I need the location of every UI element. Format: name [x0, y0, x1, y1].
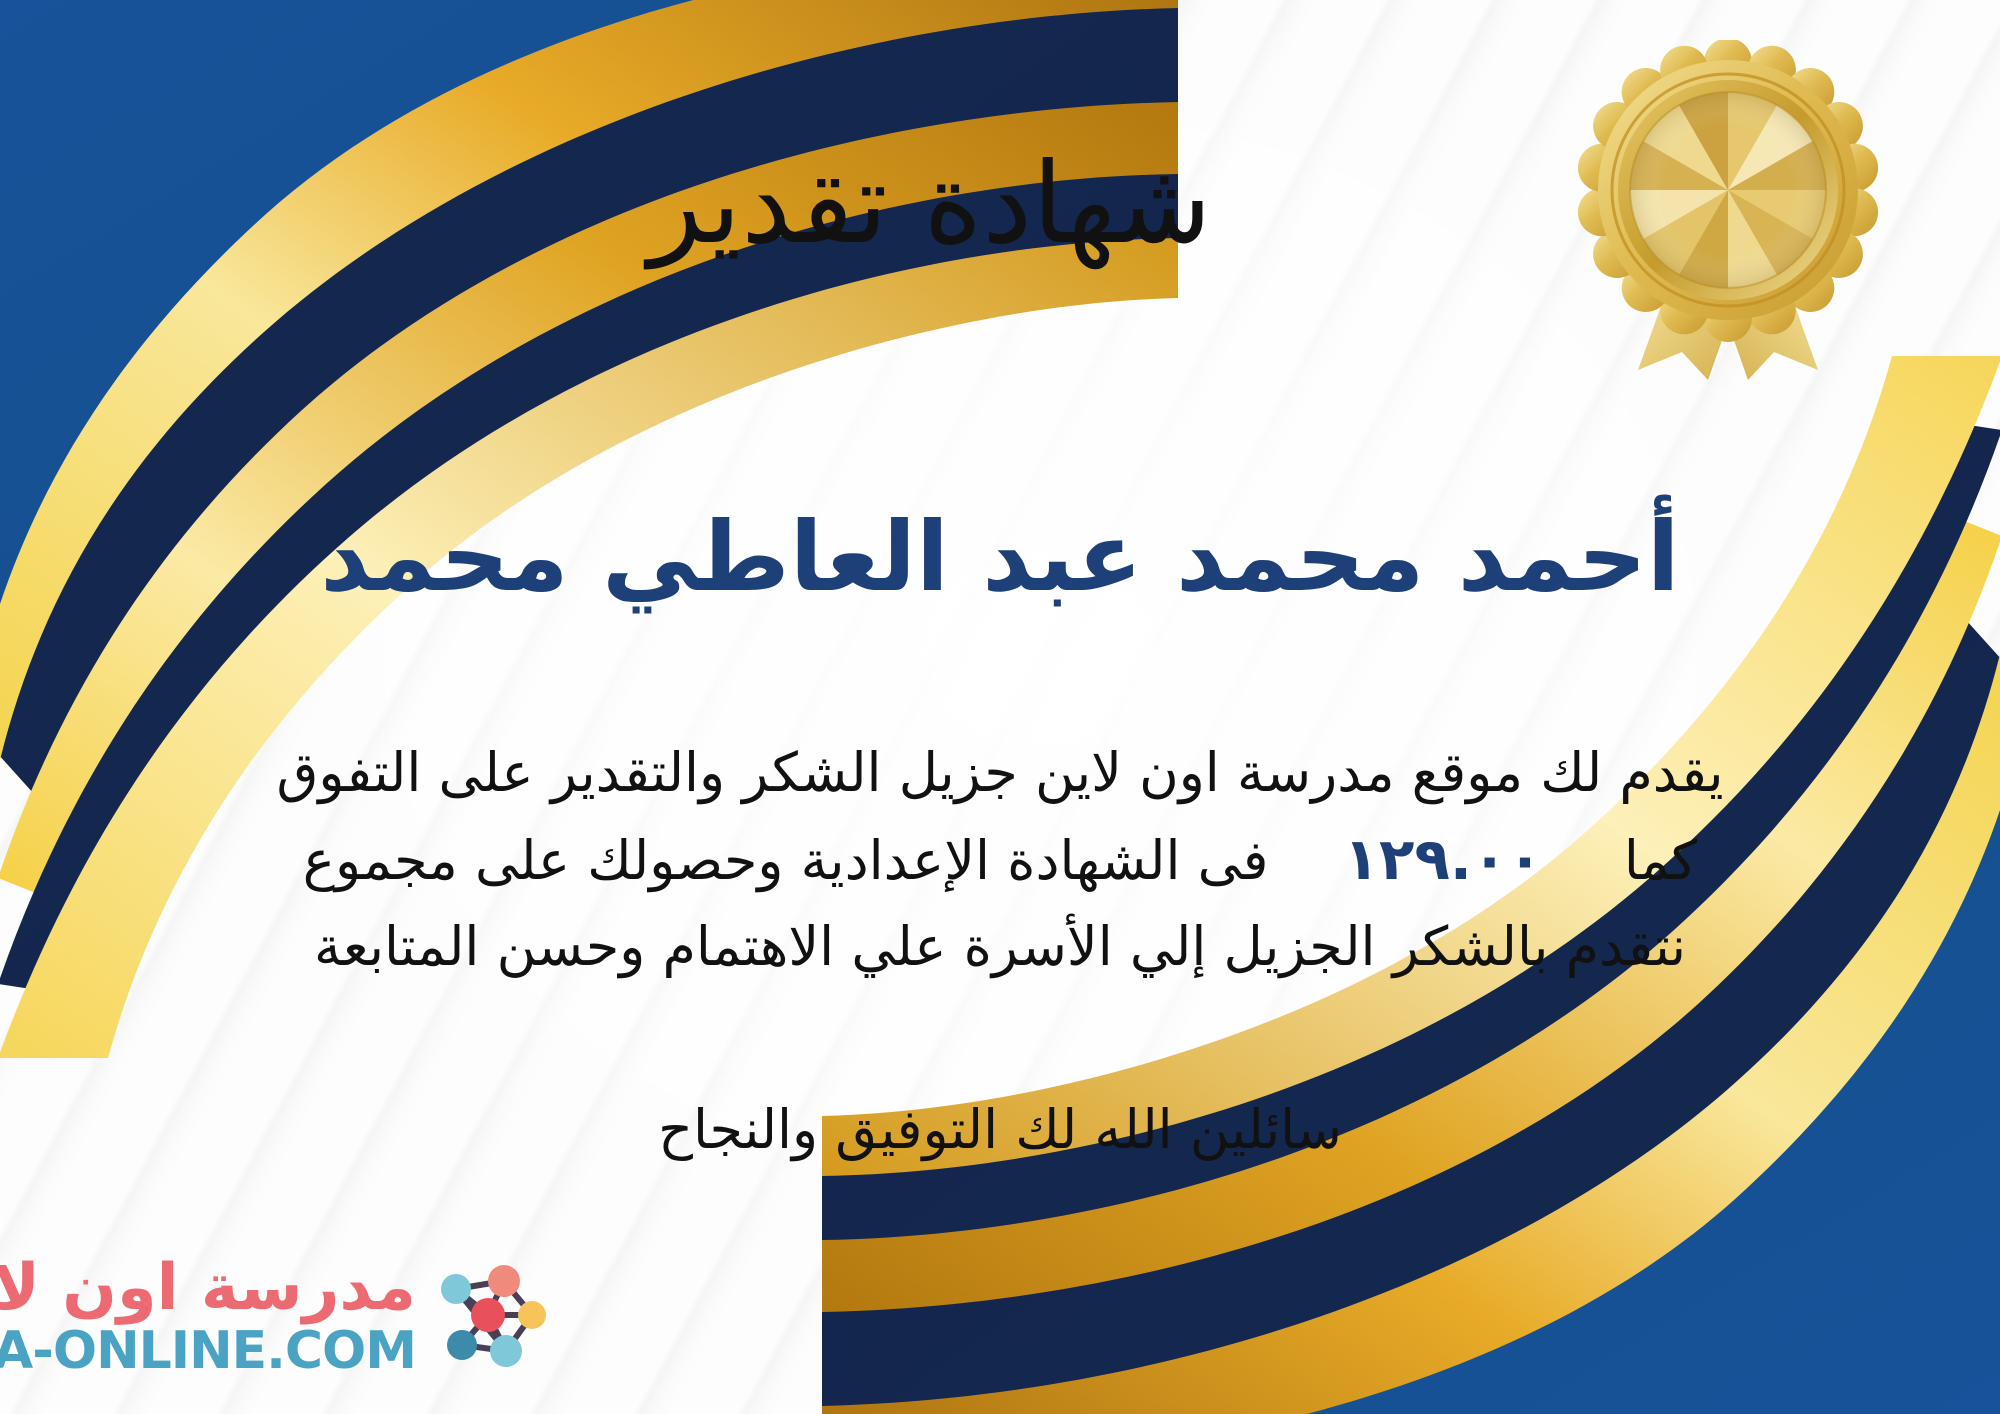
total-score-value: ١٢٩.٠٠	[1286, 816, 1607, 902]
brand-text: مدرسة اون لاين MADRSA-ONLINE.COM	[0, 1254, 422, 1379]
body-line-1: يقدم لك موقع مدرسة اون لاين جزيل الشكر و…	[0, 730, 2000, 816]
page-title: شهادة تقدير	[0, 140, 1860, 269]
body-line-2-after-score: كما	[1624, 829, 1697, 892]
body-line-2-before-score: فى الشهادة الإعدادية وحصولك على مجموع	[303, 829, 1269, 892]
body-line-3: نتقدم بالشكر الجزيل إلي الأسرة علي الاهت…	[0, 904, 2000, 990]
network-nodes-icon	[422, 1253, 550, 1381]
certificate-page: شهادة تقدير أحمد محمد عبد العاطي محمد يق…	[0, 0, 2000, 1414]
closing-wish-line: سائلين الله لك التوفيق والنجاح	[0, 1095, 2000, 1165]
recipient-name: أحمد محمد عبد العاطي محمد	[0, 500, 2000, 615]
brand-website-url[interactable]: MADRSA-ONLINE.COM	[0, 1323, 416, 1379]
brand-logo[interactable]: مدرسة اون لاين MADRSA-ONLINE.COM	[30, 1242, 550, 1392]
certificate-body: يقدم لك موقع مدرسة اون لاين جزيل الشكر و…	[0, 730, 2000, 990]
brand-name-arabic: مدرسة اون لاين	[0, 1254, 416, 1323]
certificate-content: شهادة تقدير أحمد محمد عبد العاطي محمد يق…	[0, 0, 2000, 1414]
body-line-2: كما ١٢٩.٠٠ فى الشهادة الإعدادية وحصولك ع…	[0, 816, 2000, 904]
